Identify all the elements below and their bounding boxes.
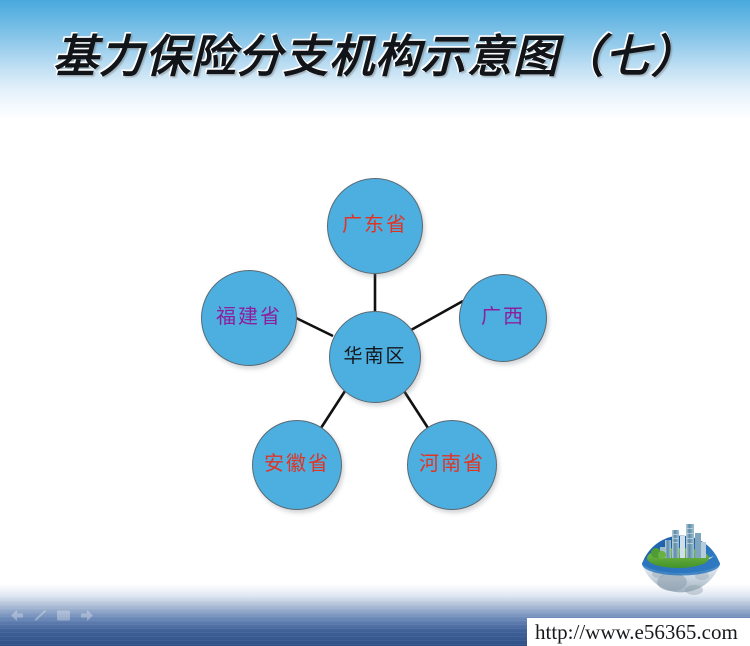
presentation-slide: 基力保险分支机构示意图（七） 华南区 广东省 广西 福建省 xyxy=(0,0,750,646)
node-guangxi[interactable]: 广西 xyxy=(459,274,547,362)
node-label: 广西 xyxy=(481,307,525,327)
node-fujian[interactable]: 福建省 xyxy=(201,270,297,366)
node-label: 广东省 xyxy=(342,215,408,235)
node-label: 安徽省 xyxy=(264,454,330,474)
node-guangdong[interactable]: 广东省 xyxy=(327,178,423,274)
connector-to-henan xyxy=(404,391,428,428)
slideshow-nav-controls[interactable] xyxy=(8,609,96,622)
node-label: 华南区 xyxy=(343,347,406,366)
node-anhui[interactable]: 安徽省 xyxy=(252,420,342,510)
connector-to-fujian xyxy=(292,316,333,336)
connector-to-guangxi xyxy=(411,301,463,330)
earth-city-globe-icon xyxy=(638,518,724,614)
globe-city-buildings xyxy=(660,524,706,558)
next-slide-arrow-icon[interactable] xyxy=(80,609,96,622)
menu-square-icon[interactable] xyxy=(56,609,71,622)
node-henan[interactable]: 河南省 xyxy=(407,420,497,510)
watermark-url-text: http://www.e56365.com xyxy=(535,620,738,645)
node-huanan-district[interactable]: 华南区 xyxy=(329,311,421,403)
pen-tool-icon[interactable] xyxy=(33,609,47,622)
connector-to-anhui xyxy=(321,391,345,428)
previous-slide-arrow-icon[interactable] xyxy=(8,609,24,622)
node-label: 河南省 xyxy=(419,454,485,474)
node-label: 福建省 xyxy=(216,307,282,327)
watermark-url-box: http://www.e56365.com xyxy=(527,618,750,646)
